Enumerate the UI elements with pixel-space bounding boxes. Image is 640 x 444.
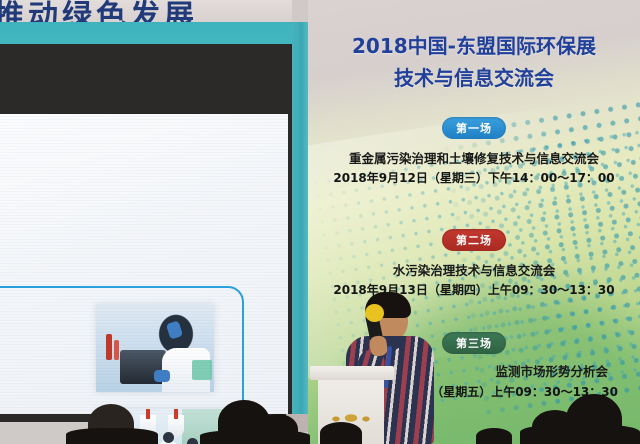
green-equipment-shape	[192, 360, 212, 380]
blue-glove-shape	[166, 320, 183, 339]
audience-shoulders	[66, 428, 158, 444]
session-1-title: 重金属污染治理和土壤修复技术与信息交流会	[308, 148, 640, 167]
teal-divider-pillar	[292, 22, 308, 422]
backdrop-title-line-1: 2018中国-东盟国际环保展	[308, 30, 640, 59]
teal-accent-strip	[0, 22, 292, 44]
top-banner-text: 推动绿色发展	[0, 0, 198, 22]
red-vial-shape	[106, 334, 112, 360]
top-banner: 推动绿色发展	[0, 0, 292, 22]
session-2-title: 水污染治理技术与信息交流会	[308, 260, 640, 279]
session-1-time: 2018年9月12日（星期三）下午14：00～17：00	[308, 169, 640, 186]
conference-photo-scene: 推动绿色发展	[0, 0, 640, 444]
audience-row	[0, 384, 640, 444]
slide-photo-lab-scientist	[96, 304, 214, 392]
backdrop-title-line-2: 技术与信息交流会	[308, 62, 640, 91]
audience-shoulders	[520, 424, 640, 444]
projection-screen-surface	[0, 114, 288, 414]
podium-top-surface	[310, 366, 394, 380]
session-2-badge: 第二场	[442, 229, 506, 251]
session-1-badge: 第一场	[442, 117, 506, 139]
audience-head	[320, 422, 362, 444]
microphone-head-icon	[365, 304, 384, 322]
audience-shoulders	[200, 430, 310, 444]
red-vial-shape-2	[114, 340, 119, 360]
session-3-badge: 第三场	[442, 332, 506, 354]
blue-glove-lower-shape	[154, 370, 170, 382]
speaker-hand	[369, 335, 389, 357]
projection-wall: 推动绿色发展	[0, 0, 308, 444]
audience-head	[476, 428, 512, 444]
